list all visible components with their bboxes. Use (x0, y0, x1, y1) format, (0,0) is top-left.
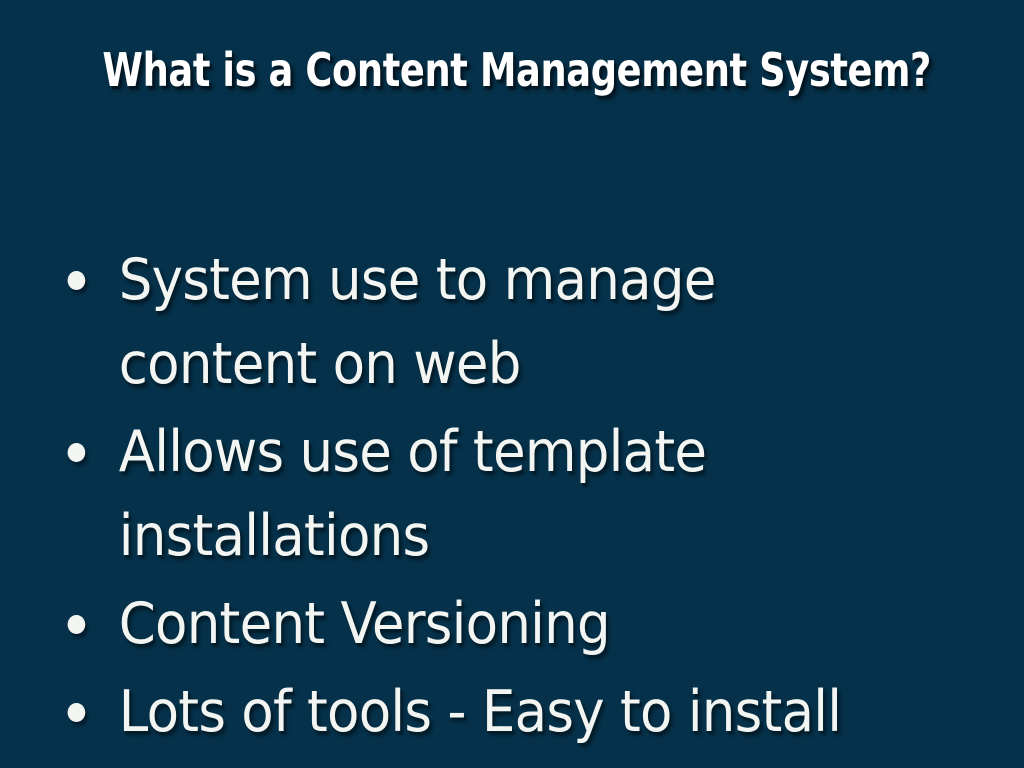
list-item-label: Content Versioning (119, 582, 929, 666)
bullet-list: System use to manage content on web Allo… (62, 238, 994, 758)
list-item-label: Allows use of template installations (119, 410, 929, 578)
presentation-slide: What is a Content Management System? Sys… (0, 0, 1024, 768)
page-title: What is a Content Management System? (102, 47, 921, 93)
list-item-label: System use to manage content on web (119, 238, 929, 406)
filled-circle-bullet-icon (68, 703, 86, 722)
filled-circle-bullet-icon (68, 443, 86, 462)
filled-circle-bullet-icon (68, 271, 86, 290)
list-item: Allows use of template installations (62, 410, 929, 578)
list-item: System use to manage content on web (62, 238, 929, 406)
filled-circle-bullet-icon (68, 615, 86, 634)
list-item-label: Lots of tools - Easy to install (119, 670, 929, 754)
list-item: Lots of tools - Easy to install (62, 670, 929, 754)
list-item: Content Versioning (62, 582, 929, 666)
